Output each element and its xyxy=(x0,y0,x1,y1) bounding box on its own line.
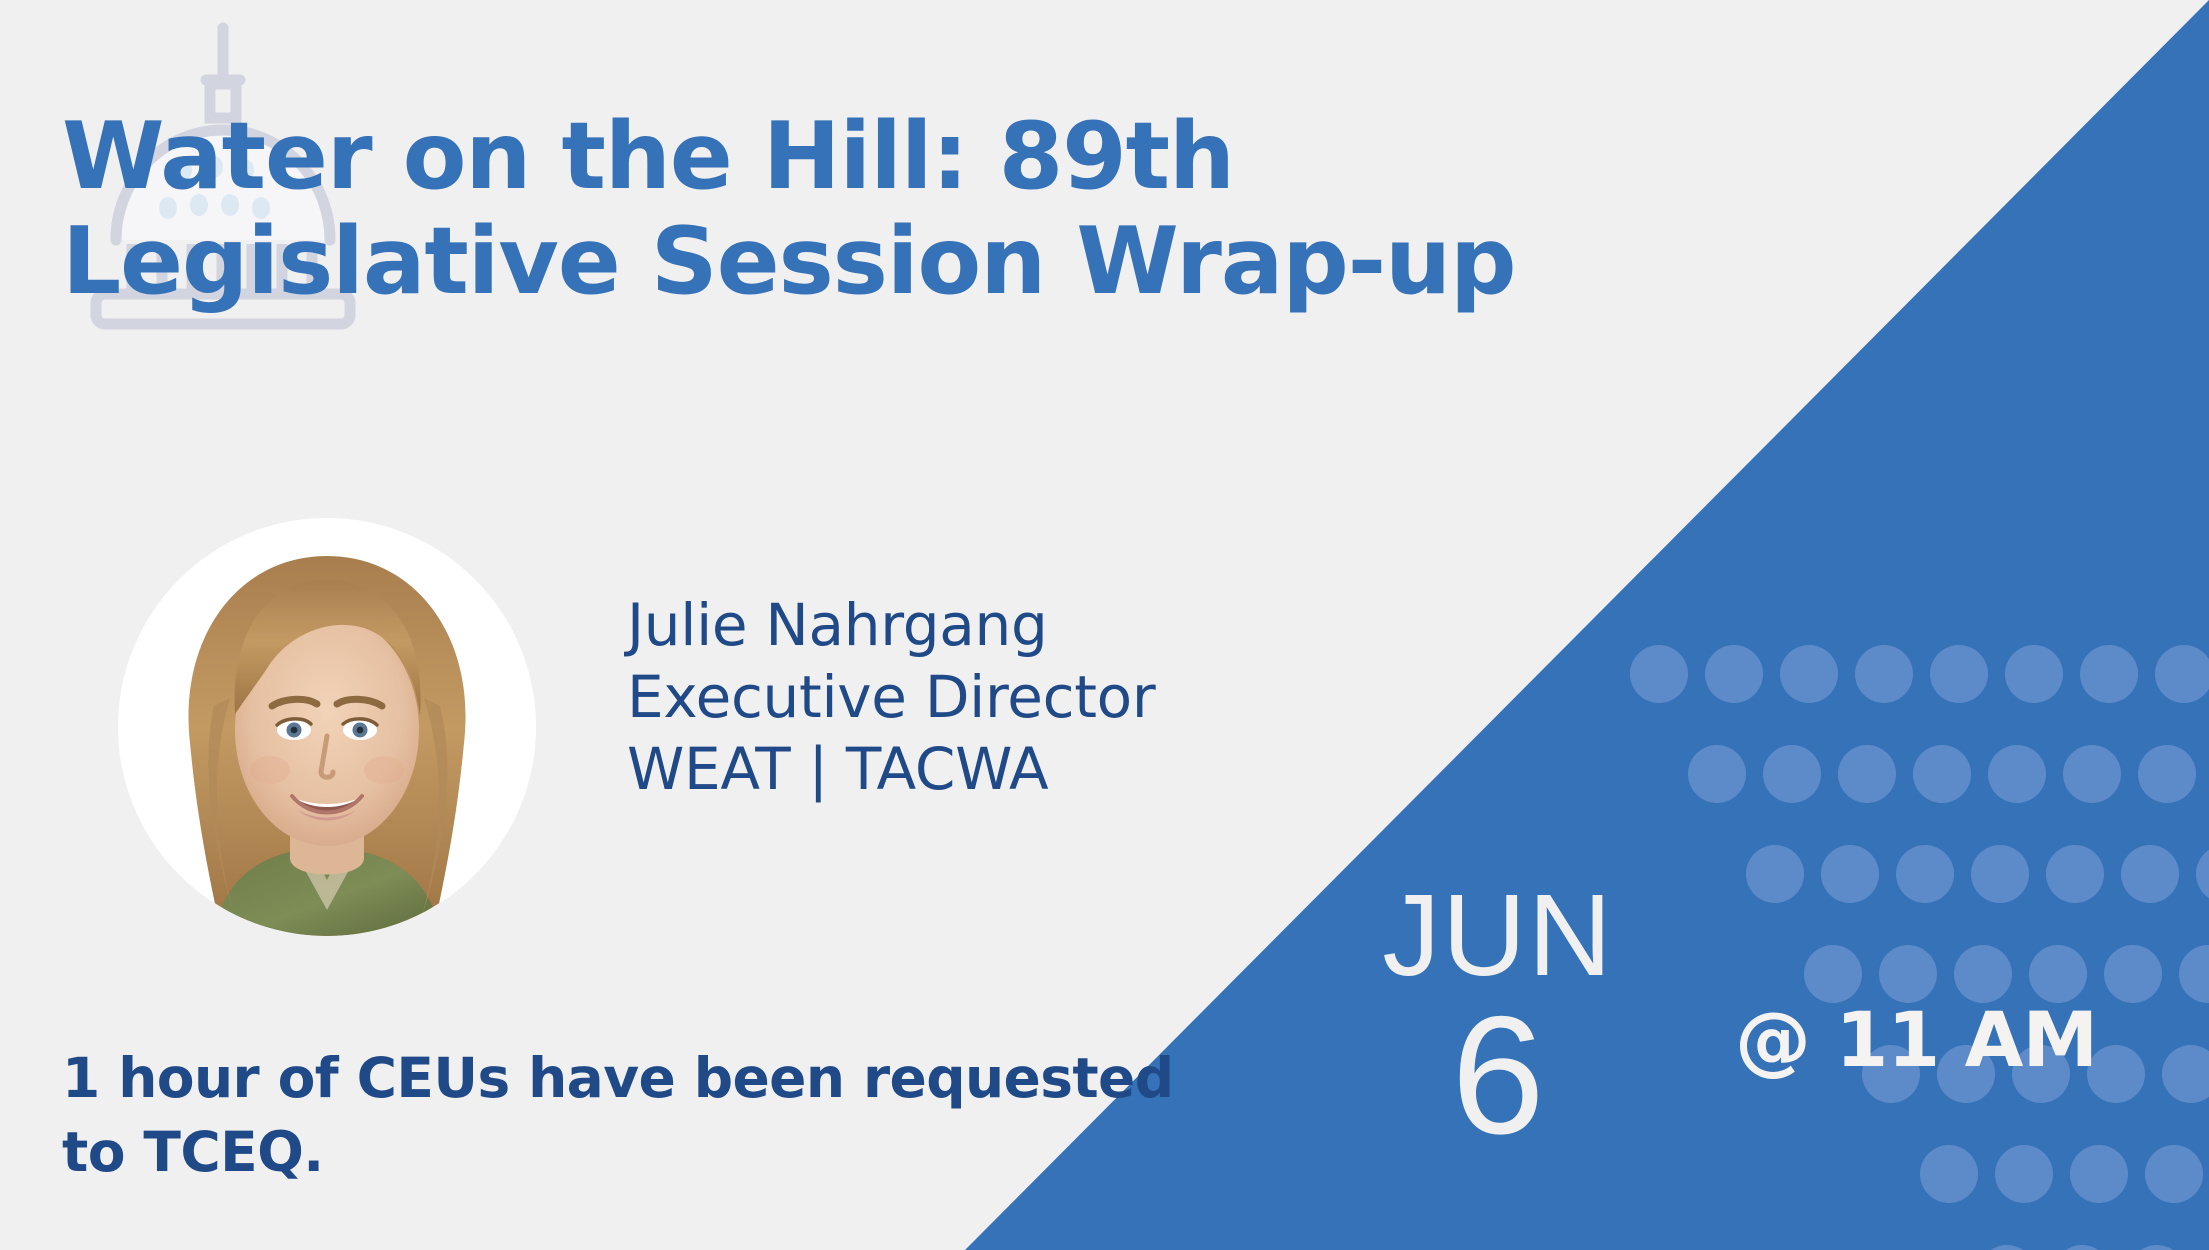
avatar xyxy=(118,518,536,936)
ceu-note-line-1: 1 hour of CEUs have been requested xyxy=(62,1042,1062,1116)
event-promo-poster: Water on the Hill: 89th Legislative Sess… xyxy=(0,0,2209,1250)
title-line-1: Water on the Hill: 89th xyxy=(62,104,1362,209)
event-date: JUN 6 xyxy=(1348,880,1648,1153)
speaker-info: Julie Nahrgang Executive Director WEAT |… xyxy=(627,590,1155,806)
ceu-note: 1 hour of CEUs have been requested to TC… xyxy=(62,1042,1062,1189)
speaker-organization: WEAT | TACWA xyxy=(627,734,1155,806)
title-line-2: Legislative Session Wrap-up xyxy=(62,209,1362,314)
event-day: 6 xyxy=(1348,998,1648,1153)
event-month: JUN xyxy=(1348,880,1648,990)
page-title: Water on the Hill: 89th Legislative Sess… xyxy=(62,104,1362,314)
ceu-note-line-2: to TCEQ. xyxy=(62,1116,1062,1190)
event-time: @ 11 AM xyxy=(1735,995,2097,1084)
speaker-name: Julie Nahrgang xyxy=(627,590,1155,662)
speaker-role: Executive Director xyxy=(627,662,1155,734)
